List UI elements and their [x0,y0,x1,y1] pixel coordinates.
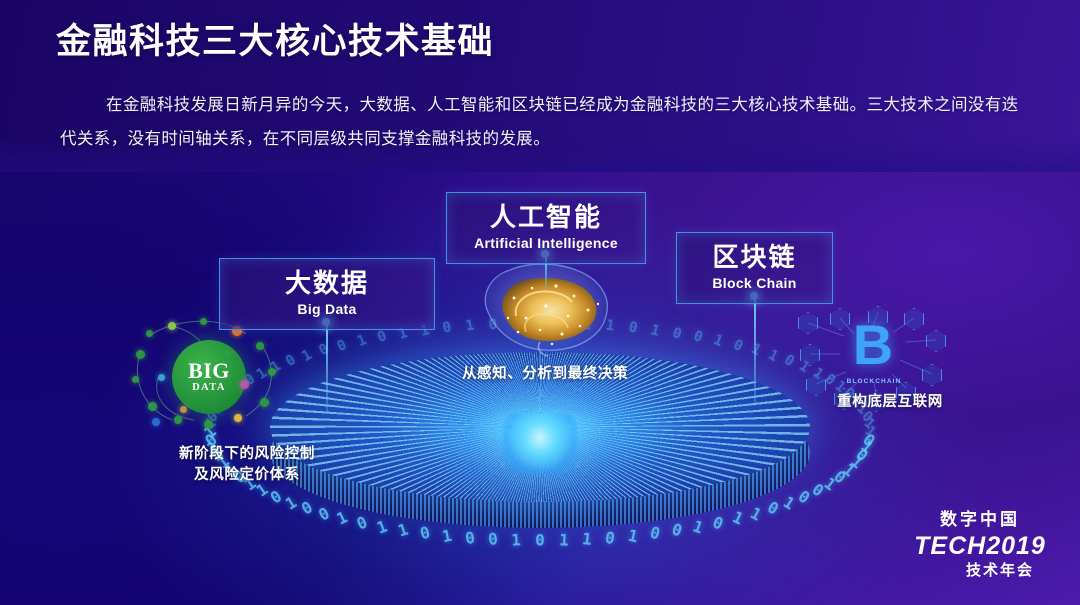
label-block-chain-cn: 区块链 [697,241,812,274]
binary-digit: 1 [857,437,877,458]
big-data-secondary-text: DATA [192,381,226,394]
body-paragraph: 在金融科技发展日新月异的今天，大数据、人工智能和区块链已经成为金融科技的三大核心… [60,88,1022,156]
binary-digit: 0 [859,429,879,450]
big-data-node [152,418,160,426]
caption-big-data-line2: 及风险定价体系 [112,465,382,486]
caption-ai: 从感知、分析到最终决策 [420,364,670,385]
label-box-artificial-intelligence[interactable]: 人工智能 Artificial Intelligence [446,192,646,264]
big-data-node [136,350,145,359]
big-data-circle: BIG DATA [172,340,246,414]
binary-digit: 1 [847,452,867,473]
label-ai-en: Artificial Intelligence [467,234,625,253]
binary-digit: 0 [375,328,389,346]
big-data-node [132,376,139,383]
big-data-node [180,406,187,413]
big-data-node [168,322,176,330]
label-big-data-cn: 大数据 [240,267,414,300]
label-box-block-chain[interactable]: 区块链 Block Chain [676,232,833,304]
connector-stem-block-chain [754,296,756,406]
logo-line-digital-china: 数字中国 [900,508,1060,532]
binary-digit: 1 [711,332,725,350]
event-logo: 数字中国 TECH2019 技术年会 [900,508,1060,581]
binary-digit: 0 [691,328,705,346]
logo-line-tech2019: TECH2019 [900,532,1060,560]
big-data-node [268,368,276,376]
binary-digit: 1 [355,332,369,350]
binary-digit: 0 [671,325,684,343]
binary-digit: 1 [861,423,878,441]
big-data-node [200,318,207,325]
binary-digit: 1 [839,459,859,480]
big-data-node [148,402,157,411]
binary-digit: 1 [820,473,839,494]
binary-digit: 0 [627,320,639,337]
caption-block-chain: 重构底层互联网 [790,392,990,413]
big-data-primary-text: BIG [188,360,230,381]
page-title: 金融科技三大核心技术基础 [56,18,494,66]
slide-canvas: 金融科技三大核心技术基础 在金融科技发展日新月异的今天，大数据、人工智能和区块链… [0,0,1080,605]
caption-big-data: 新阶段下的风险控制 及风险定价体系 [112,444,382,486]
big-data-node [234,414,242,422]
label-big-data-en: Big Data [240,300,414,319]
big-data-node [260,398,269,407]
logo-line-annual-conference: 技术年会 [900,560,1060,581]
big-data-node [256,342,264,350]
binary-digit: 0 [831,466,850,487]
blockchain-icon-cluster: B BLOCKCHAIN [796,306,948,402]
big-data-node [158,374,165,381]
binary-digit: 0 [853,445,873,466]
binary-digit: 0 [441,320,453,337]
binary-digit: 1 [649,322,661,340]
big-data-node [240,380,249,389]
big-data-node [174,416,182,424]
caption-big-data-line1: 新阶段下的风险控制 [112,444,382,465]
big-data-node [224,350,231,357]
binary-digit: 1 [861,415,878,433]
label-box-big-data[interactable]: 大数据 Big Data [219,258,435,330]
connector-stem-big-data [326,322,328,414]
binary-digit: 0 [808,480,827,501]
big-data-icon-cluster: BIG DATA [128,316,288,436]
big-data-node [204,420,213,429]
label-block-chain-en: Block Chain [697,274,812,293]
big-data-node [146,330,153,337]
label-ai-cn: 人工智能 [467,201,625,234]
disc-core-pillar [503,413,577,475]
blockchain-label-text: BLOCKCHAIN [836,378,912,385]
